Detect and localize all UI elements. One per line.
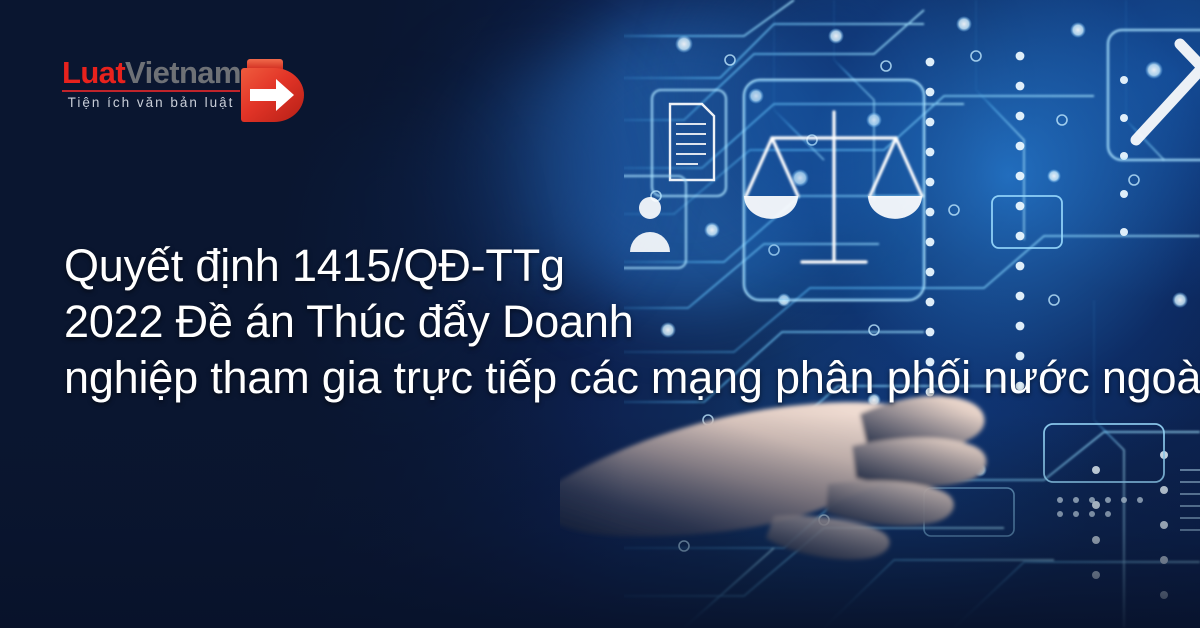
- luatvietnam-logo[interactable]: LuatVietnam Tiện ích văn bản luật: [62, 57, 307, 137]
- logo-word-vietnam: Vietnam: [125, 55, 241, 90]
- title-line-2: 2022 Đề án Thúc đẩy Doanh: [64, 294, 1200, 350]
- title-line-1: Quyết định 1415/QĐ-TTg: [64, 238, 1200, 294]
- title-line-3: nghiệp tham gia trực tiếp các mạng phân …: [64, 350, 1200, 406]
- logo-word-luat: Luat: [62, 55, 125, 90]
- logo-underline-rule: [62, 90, 240, 92]
- banner: LuatVietnam Tiện ích văn bản luật: [0, 0, 1200, 628]
- red-folder-arrow-icon: [238, 55, 310, 127]
- page-title: Quyết định 1415/QĐ-TTg 2022 Đề án Thúc đ…: [64, 238, 1200, 406]
- logo-tagline: Tiện ích văn bản luật: [62, 95, 240, 110]
